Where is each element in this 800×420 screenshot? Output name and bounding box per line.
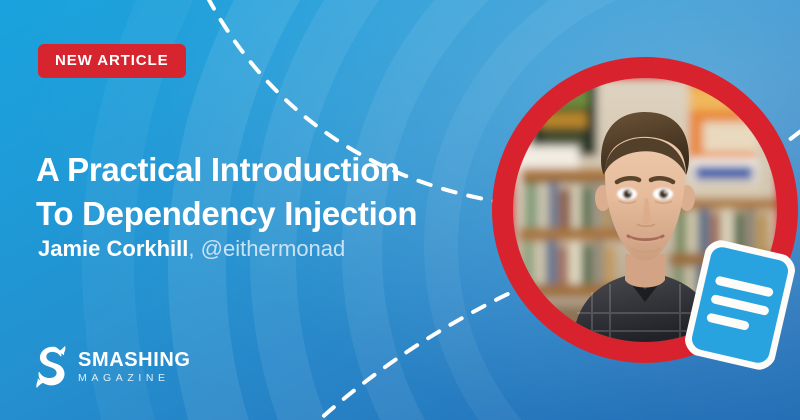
smashing-cat-s-icon <box>34 346 68 388</box>
article-byline: Jamie Corkhill, @eithermonad <box>38 238 345 260</box>
article-title-line-1: A Practical Introduction <box>36 148 506 192</box>
article-title: A Practical Introduction To Dependency I… <box>36 148 506 236</box>
logo-secondary-text: MAGAZINE <box>78 372 191 385</box>
article-promo-card: NEW ARTICLE A Practical Introduction To … <box>0 0 800 420</box>
article-title-line-2: To Dependency Injection <box>36 192 506 236</box>
logo-primary-text: SMASHING <box>78 350 191 371</box>
author-name: Jamie Corkhill <box>38 236 188 261</box>
logo-wordmark: SMASHING MAGAZINE <box>78 350 191 385</box>
byline-separator: , <box>188 236 200 261</box>
author-handle: @eithermonad <box>201 236 346 261</box>
new-article-badge: NEW ARTICLE <box>38 44 186 78</box>
smashing-magazine-logo: SMASHING MAGAZINE <box>34 346 191 388</box>
